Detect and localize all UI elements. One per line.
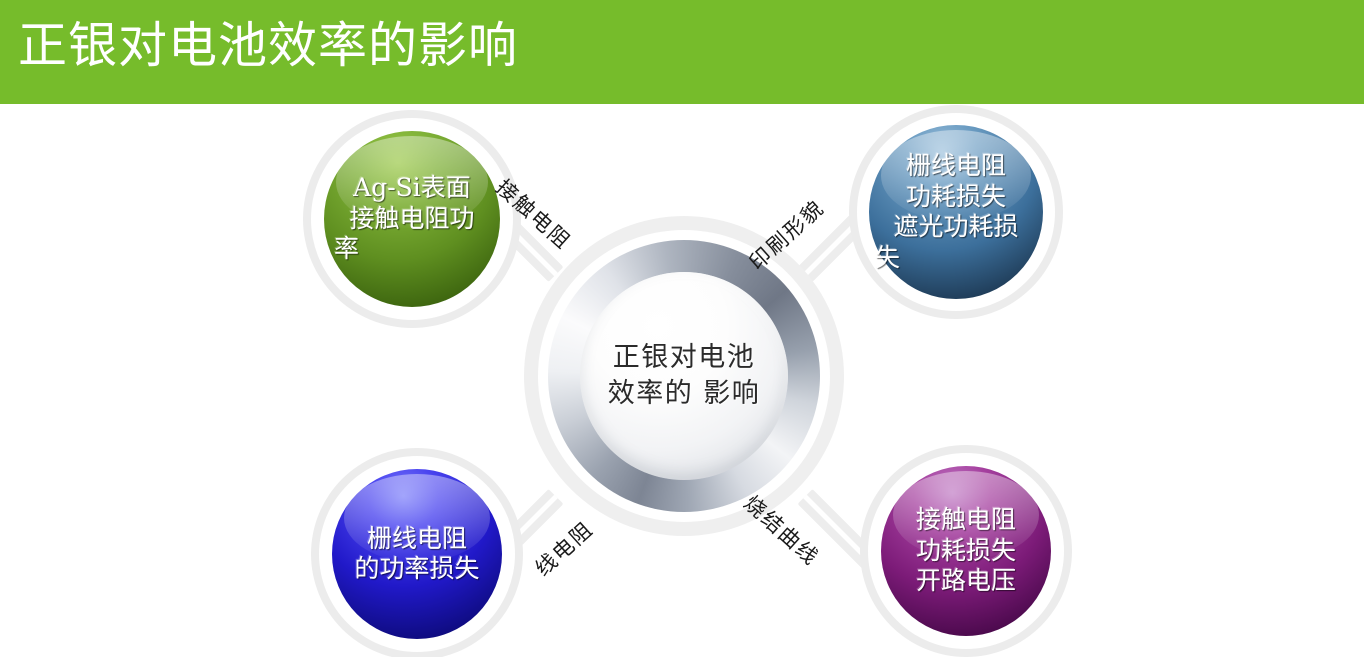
radial-diagram: 正银对电池 效率的 影响 Ag-Si表面 接触电阻功 率 [0,104,1364,657]
slide-canvas: 正银对电池效率的影响 正银对电池 效率的 影响 [0,0,1364,657]
node-gloss [344,474,490,562]
node-gloss [893,471,1039,559]
center-node-label: 正银对电池 效率的 影响 [524,216,844,536]
center-node-line-2: 效率的 影响 [608,376,761,412]
node-ag-si-surface-contact-resistance-power[interactable]: Ag-Si表面 接触电阻功 率 [303,110,521,328]
title-bar: 正银对电池效率的影响 [0,0,1364,104]
page-title: 正银对电池效率的影响 [18,14,518,78]
center-node-line-1: 正银对电池 [613,340,756,376]
node-disc [324,131,500,307]
node-gloss [881,130,1031,220]
node-grid-line-resistance-power-loss[interactable]: 栅线电阻 的功率损失 [311,448,523,657]
node-contact-resistance-loss-open-circuit-voltage[interactable]: 接触电阻 功耗损失 开路电压 [860,445,1072,657]
node-gloss [336,136,487,228]
node-disc [881,466,1051,636]
node-disc [332,469,502,639]
center-node[interactable]: 正银对电池 效率的 影响 [524,216,844,536]
node-disc [869,125,1043,299]
node-grid-line-resistance-shading-loss[interactable]: 栅线电阻 功耗损失 遮光功耗损 失 [849,105,1063,319]
